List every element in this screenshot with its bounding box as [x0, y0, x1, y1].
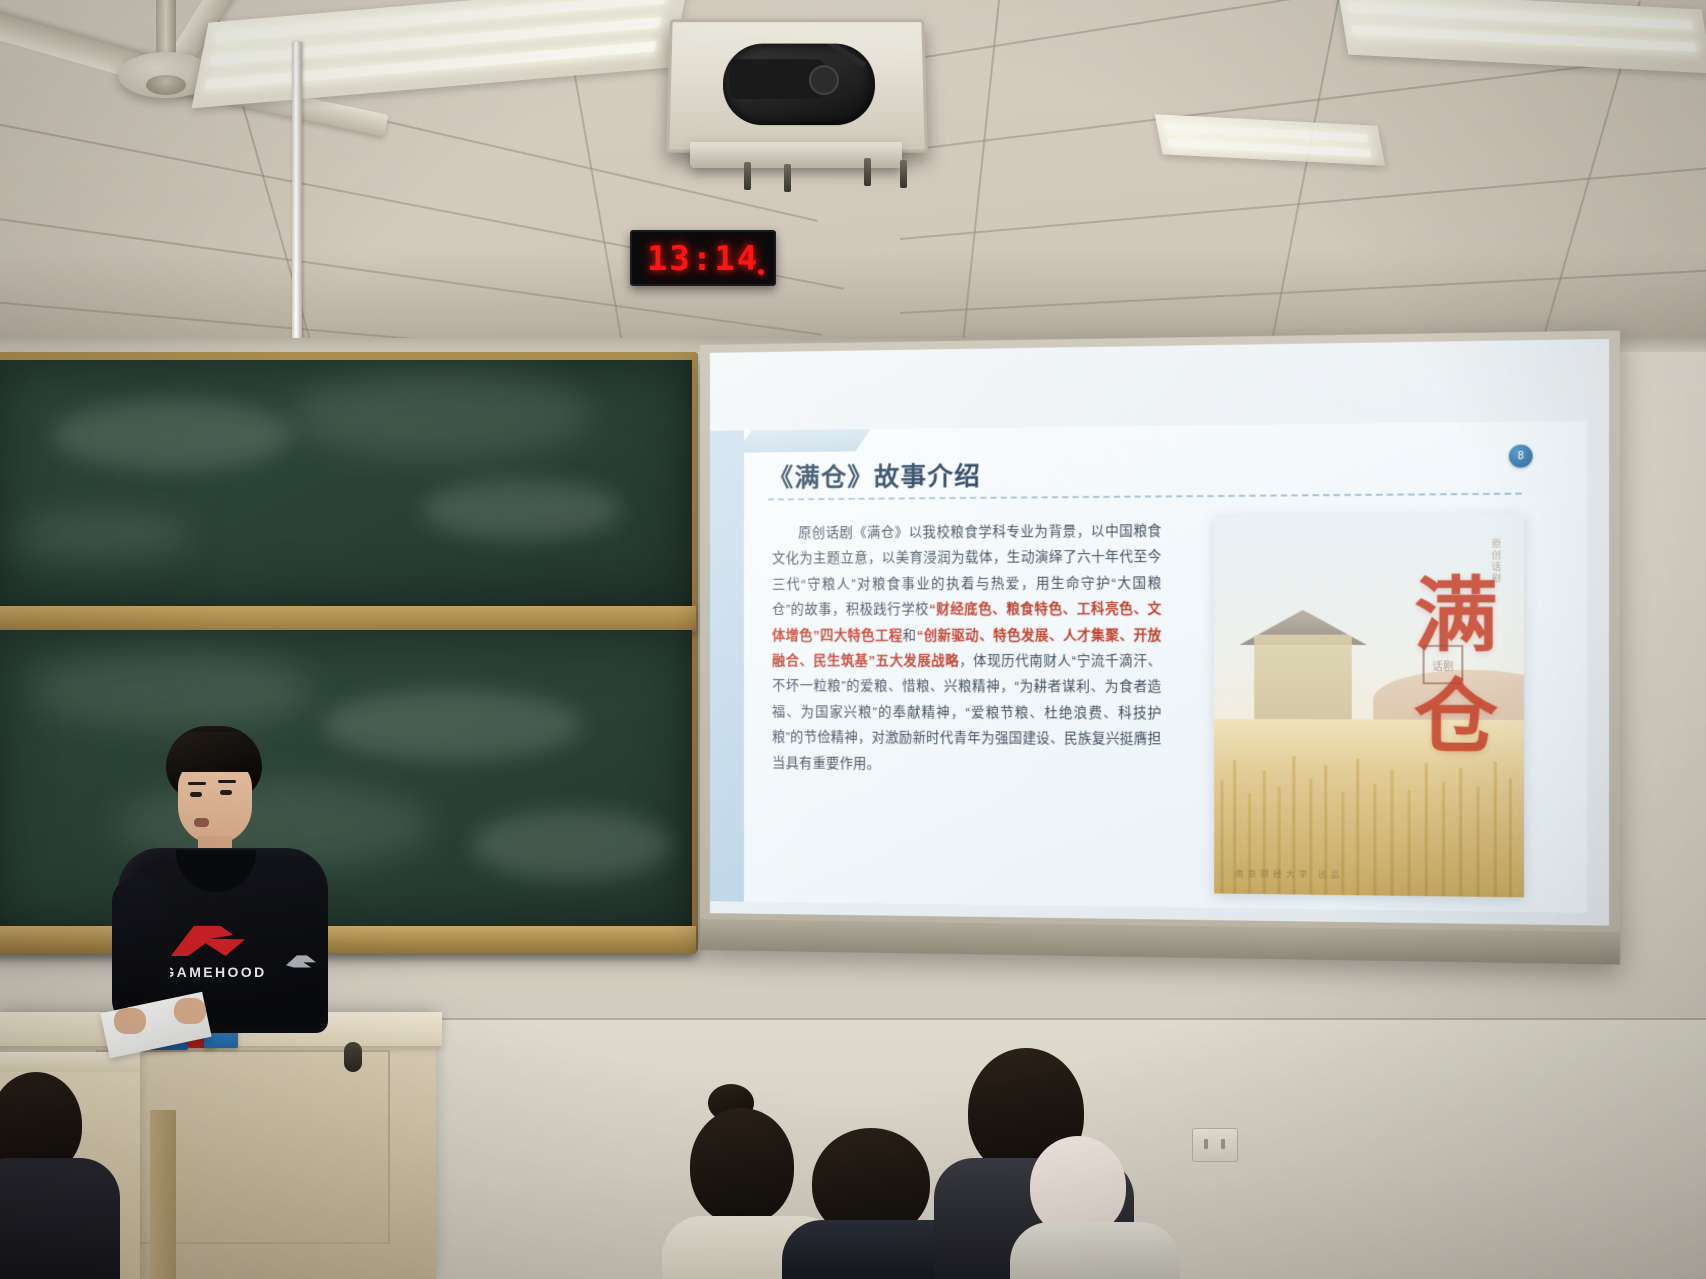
student-right [1020, 1128, 1170, 1279]
projector-window [722, 44, 875, 126]
podium-front-panel [96, 1050, 390, 1244]
clock-time: 13:14 [647, 239, 759, 279]
projected-slide-area: 《满仓》故事介绍 8 原创话剧《满仓》以我校粮食学科专业为背景，以中国粮食文化为… [710, 339, 1609, 926]
slide-left-accent-bar [710, 431, 744, 902]
presenter-student: GAMEHOOD [118, 726, 328, 1026]
podium-leg [150, 1110, 176, 1279]
play-poster-image: 原创话剧 满 话剧 仓 南京财经大学 出品 [1214, 513, 1524, 897]
wall-power-outlet[interactable] [1192, 1128, 1238, 1162]
mount-bolt [744, 162, 751, 190]
slide-body-text: 原创话剧《满仓》以我校粮食学科专业为背景，以中国粮食文化为主题立意，以美育浸润为… [772, 518, 1162, 778]
mount-bolt [900, 160, 907, 188]
slide-page-badge: 8 [1509, 445, 1533, 468]
chalk-rail [0, 606, 696, 632]
classroom-photo: 13:14 《满仓》故事介绍 8 原创话剧《满仓》以我校粮食学科专业为背景， [0, 0, 1706, 1279]
mount-bolt [864, 158, 871, 186]
presenter-fringe [168, 732, 260, 772]
slide-accent-wedge [737, 429, 871, 453]
projector-lens [809, 65, 839, 95]
mount-bolt [784, 164, 791, 192]
digital-clock: 13:14 [630, 230, 776, 286]
blackboard-upper [0, 360, 692, 608]
screen-pull-rod[interactable] [292, 42, 302, 372]
poster-character-cang: 仓 [1414, 653, 1498, 770]
hoodie-brand-text: GAMEHOOD [156, 964, 274, 980]
poster-credits: 南京财经大学 出品 [1235, 868, 1343, 881]
hoodie-logo-icon [164, 922, 256, 962]
projection-screen: 《满仓》故事介绍 8 原创话剧《满仓》以我校粮食学科专业为背景，以中国粮食文化为… [700, 330, 1620, 964]
presenter-hand [114, 1008, 146, 1034]
projector-cage [666, 19, 928, 152]
student-left [0, 1072, 110, 1279]
body-text-mid: 和 [903, 627, 917, 642]
clock-indicator-dot [758, 269, 764, 275]
presenter-hand [174, 998, 206, 1024]
chalk-rail-lower [0, 926, 696, 954]
slide-title: 《满仓》故事介绍 [768, 456, 981, 494]
body-text-part2: ，体现历代南财人“宁流千滴汗、不坏一粒粮”的爱粮、惜粮、兴粮精神，“为耕者谋利、… [772, 653, 1162, 771]
podium-knob[interactable] [344, 1042, 362, 1072]
blackboard-lower [0, 630, 692, 930]
poster-silo [1254, 635, 1352, 724]
presenter-mouth [194, 818, 209, 827]
